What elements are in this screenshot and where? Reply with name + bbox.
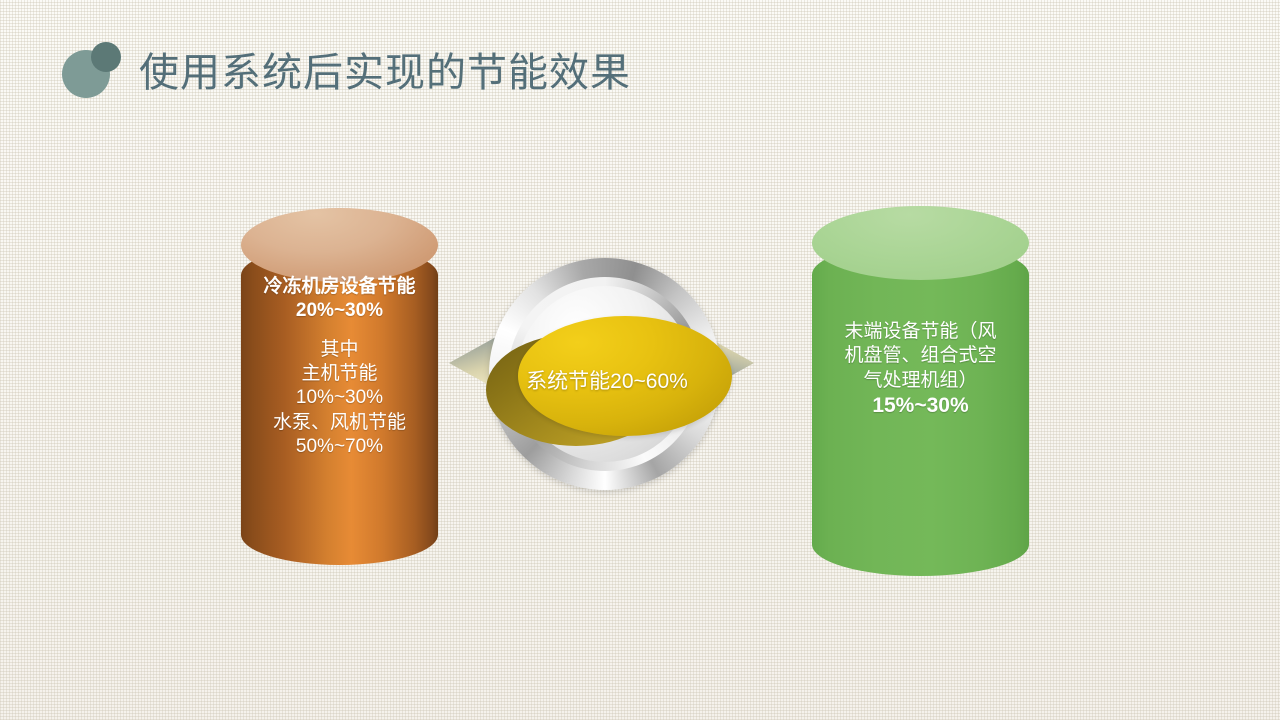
right-line-3: 15%~30% xyxy=(812,393,1029,420)
left-line-0: 冷冻机房设备节能 xyxy=(241,275,438,299)
left-line-5: 10%~30% xyxy=(241,386,438,410)
right-line-2: 气处理机组） xyxy=(812,369,1029,393)
page-title: 使用系统后实现的节能效果 xyxy=(139,46,631,100)
logo-circle-small-icon xyxy=(91,42,121,72)
slide-canvas: 使用系统后实现的节能效果 冷冻机房设备节能 20%~30% 其中 主机节能 10… xyxy=(0,0,1280,720)
left-line-1: 20%~30% xyxy=(241,299,438,323)
right-line-0: 末端设备节能（风 xyxy=(812,320,1029,344)
left-line-4: 主机节能 xyxy=(241,362,438,386)
left-line-6: 水泵、风机节能 xyxy=(241,411,438,435)
right-line-1: 机盘管、组合式空 xyxy=(812,344,1029,368)
left-line-3: 其中 xyxy=(241,338,438,362)
left-cylinder-top-ellipse xyxy=(241,208,438,282)
left-line-7: 50%~70% xyxy=(241,435,438,459)
right-cylinder-label: 末端设备节能（风 机盘管、组合式空 气处理机组） 15%~30% xyxy=(812,320,1029,420)
hub-label: 系统节能20~60% xyxy=(500,320,714,440)
logo-mark xyxy=(62,42,124,98)
center-hub: 系统节能20~60% xyxy=(489,258,721,490)
slide-header: 使用系统后实现的节能效果 xyxy=(0,34,1280,114)
left-line-gap xyxy=(241,324,438,338)
hub-ellipse-group: 系统节能20~60% xyxy=(500,320,714,440)
right-cylinder-top-ellipse xyxy=(812,206,1029,280)
left-cylinder-label: 冷冻机房设备节能 20%~30% 其中 主机节能 10%~30% 水泵、风机节能… xyxy=(241,275,438,459)
